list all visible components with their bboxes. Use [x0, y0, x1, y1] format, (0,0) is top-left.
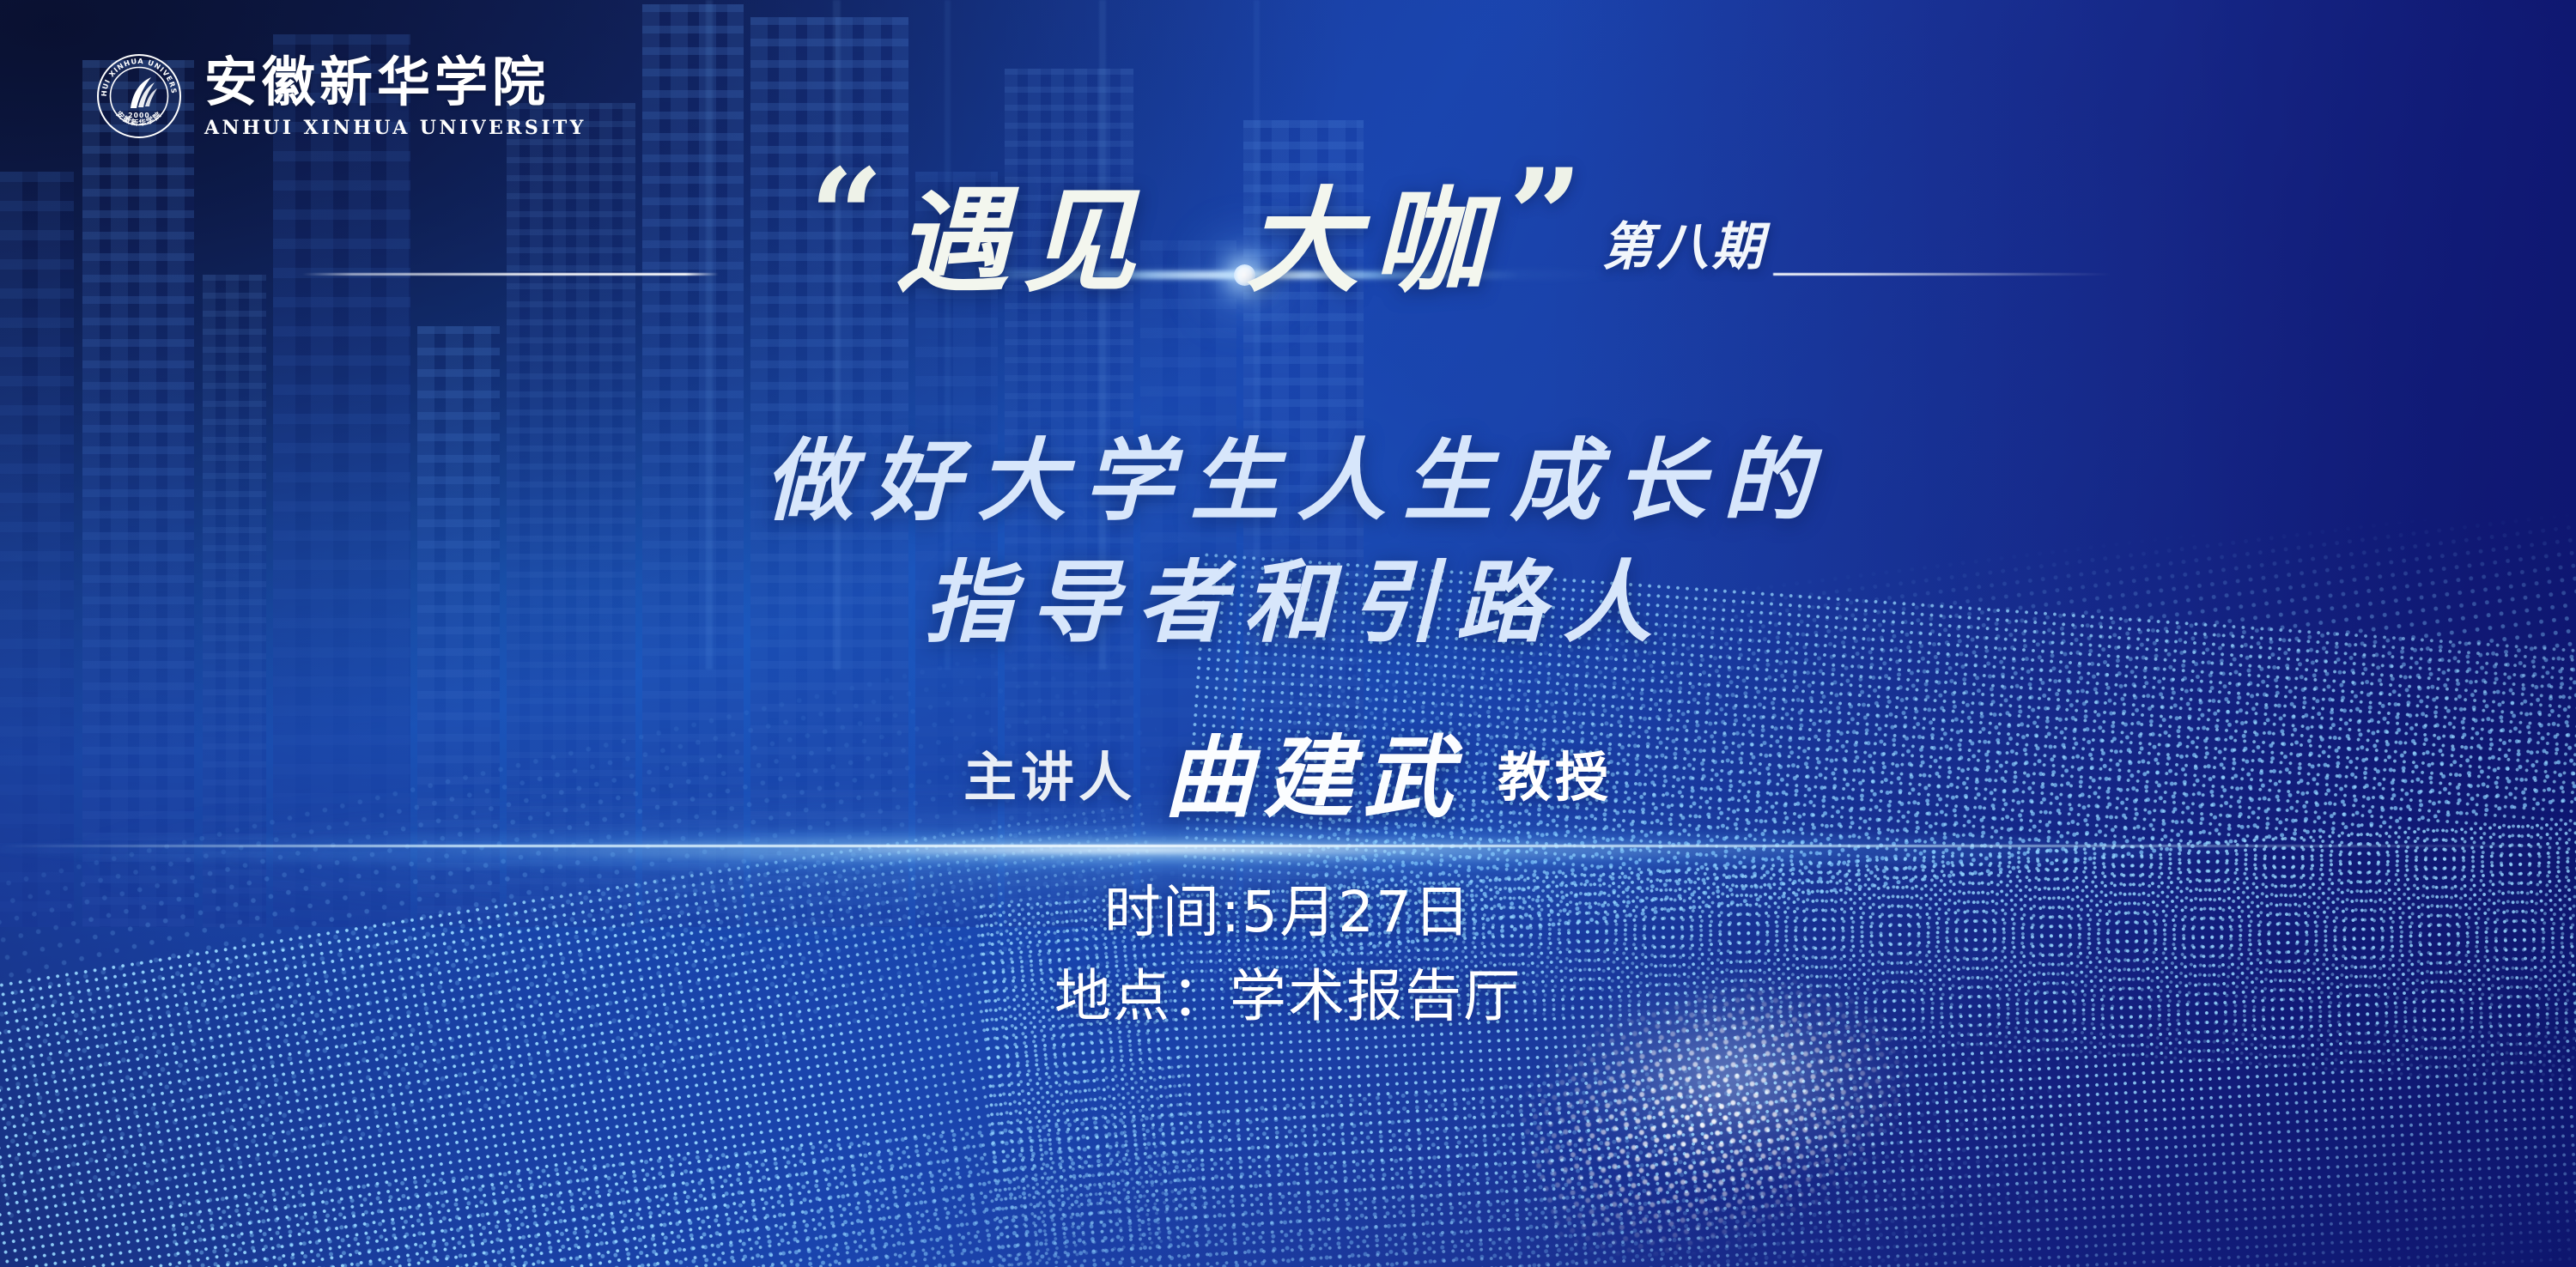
university-logo: ANHUI XINHUA UNIVERSITY 安徽新华学院 2000 安徽新华… — [96, 53, 586, 139]
speaker-rank: 教授 — [1498, 746, 1613, 809]
title-part-1: 遇见 — [896, 185, 1150, 299]
subtitle-line-1: 做好大学生人生成长的 — [0, 436, 2576, 525]
episode-label: 第八期 — [1601, 221, 1766, 273]
quote-open-mark: “ — [810, 170, 884, 263]
subtitle-line-2: 指导者和引路人 — [0, 558, 2576, 647]
speaker-line: 主讲人 曲建武 教授 — [0, 733, 2576, 822]
speaker-name: 曲建武 — [1163, 724, 1462, 830]
event-poster: ANHUI XINHUA UNIVERSITY 安徽新华学院 2000 安徽新华… — [0, 0, 2576, 1267]
university-emblem-icon: ANHUI XINHUA UNIVERSITY 安徽新华学院 2000 — [96, 53, 182, 139]
university-name-cn: 安徽新华学院 — [204, 56, 586, 109]
particle-wave-bottom-edge — [164, 1018, 2239, 1267]
title-part-2: 大咖 — [1246, 185, 1500, 299]
svg-text:2000: 2000 — [128, 112, 150, 119]
university-name-en: ANHUI XINHUA UNIVERSITY — [204, 118, 586, 137]
quote-close-mark: ” — [1509, 170, 1583, 263]
horizon-beam-core — [0, 845, 2576, 847]
main-title: “ 遇见 大咖 ” 第八期 — [0, 170, 2576, 299]
event-time: 时间:5月27日 — [0, 884, 2576, 941]
university-name-block: 安徽新华学院 ANHUI XINHUA UNIVERSITY — [204, 56, 586, 137]
particle-wave-bottom-left — [0, 800, 1211, 1267]
event-location: 地点：学术报告厅 — [0, 968, 2576, 1025]
sparkle-cluster — [1498, 894, 2092, 1267]
speaker-label: 主讲人 — [963, 746, 1136, 809]
